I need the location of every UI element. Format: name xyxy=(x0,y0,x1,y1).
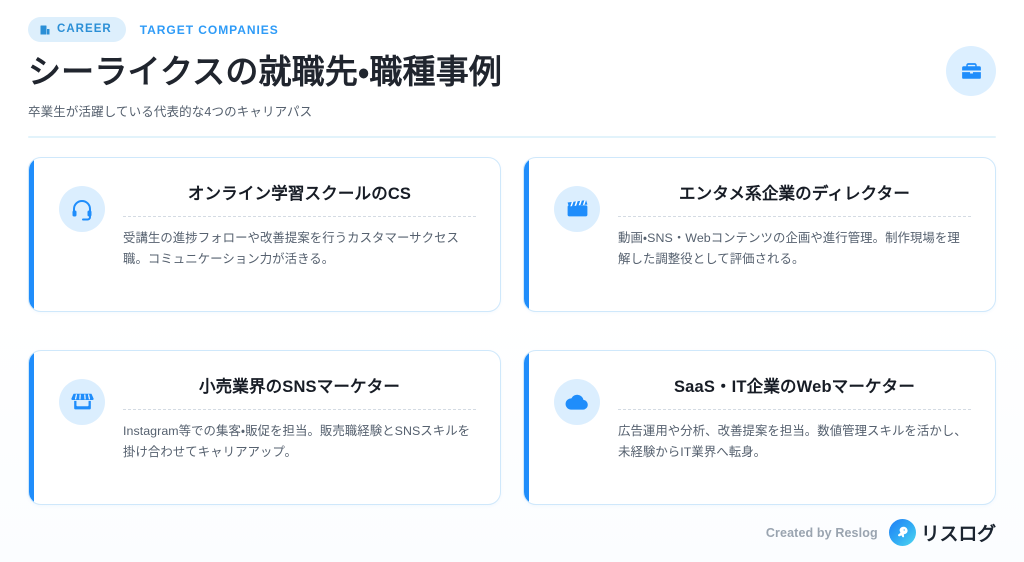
reslog-logo: リスログ xyxy=(889,519,996,546)
eyebrow-row: CAREER TARGET COMPANIES xyxy=(28,17,996,42)
building-icon xyxy=(39,24,51,36)
credit-text: Created by Reslog xyxy=(766,526,878,540)
slide-root: CAREER TARGET COMPANIES シーライクスの就職先・職種事例 … xyxy=(0,0,1024,562)
card-divider xyxy=(123,216,476,217)
career-card[interactable]: エンタメ系企業のディレクター 動画・SNS・Webコンテンツの企画や進行管理。制… xyxy=(523,157,996,312)
card-description: 広告運用や分析、改善提案を担当。数値管理スキルを活かし、未経験からIT業界へ転身… xyxy=(618,421,971,464)
page-subtitle: 卒業生が活躍している代表的な4つのキャリアパス xyxy=(28,101,996,120)
card-body: オンライン学習スクールのCS 受講生の進捗フォローや改善提案を行うカスタマーサク… xyxy=(123,184,476,291)
card-title: 小売業界のSNSマーケター xyxy=(123,378,476,398)
career-card[interactable]: 小売業界のSNSマーケター Instagram等での集客・販促を担当。販売職経験… xyxy=(28,350,501,505)
card-divider xyxy=(123,409,476,410)
header-divider xyxy=(28,136,996,138)
cloud-icon xyxy=(554,379,600,425)
card-body: SaaS・IT企業のWebマーケター 広告運用や分析、改善提案を担当。数値管理ス… xyxy=(618,377,971,484)
career-badge-label: CAREER xyxy=(57,24,112,36)
card-description: 受講生の進捗フォローや改善提案を行うカスタマーサクセス職。コミュニケーション力が… xyxy=(123,228,476,271)
card-title: SaaS・IT企業のWebマーケター xyxy=(618,378,971,398)
career-card[interactable]: SaaS・IT企業のWebマーケター 広告運用や分析、改善提案を担当。数値管理ス… xyxy=(523,350,996,505)
clapperboard-icon xyxy=(554,186,600,232)
card-description: Instagram等での集客・販促を担当。販売職経験とSNSスキルを掛け合わせて… xyxy=(123,421,476,464)
card-title: オンライン学習スクールのCS xyxy=(123,185,476,205)
card-body: 小売業界のSNSマーケター Instagram等での集客・販促を担当。販売職経験… xyxy=(123,377,476,484)
eyebrow-subtitle: TARGET COMPANIES xyxy=(140,24,279,36)
header: CAREER TARGET COMPANIES シーライクスの就職先・職種事例 … xyxy=(28,0,996,138)
footer-credit: Created by Reslog リスログ xyxy=(766,519,996,546)
logo-text: リスログ xyxy=(921,519,996,546)
squirrel-logo-icon xyxy=(889,519,916,546)
storefront-icon xyxy=(59,379,105,425)
card-description: 動画・SNS・Webコンテンツの企画や進行管理。制作現場を理解した調整役として評… xyxy=(618,228,971,271)
page-title: シーライクスの就職先・職種事例 xyxy=(28,53,996,92)
career-badge: CAREER xyxy=(28,17,126,42)
card-title: エンタメ系企業のディレクター xyxy=(618,185,971,205)
career-card[interactable]: オンライン学習スクールのCS 受講生の進捗フォローや改善提案を行うカスタマーサク… xyxy=(28,157,501,312)
card-divider xyxy=(618,409,971,410)
card-divider xyxy=(618,216,971,217)
career-cards-grid: オンライン学習スクールのCS 受講生の進捗フォローや改善提案を行うカスタマーサク… xyxy=(28,157,996,505)
briefcase-icon xyxy=(946,46,996,96)
card-body: エンタメ系企業のディレクター 動画・SNS・Webコンテンツの企画や進行管理。制… xyxy=(618,184,971,291)
headset-icon xyxy=(59,186,105,232)
